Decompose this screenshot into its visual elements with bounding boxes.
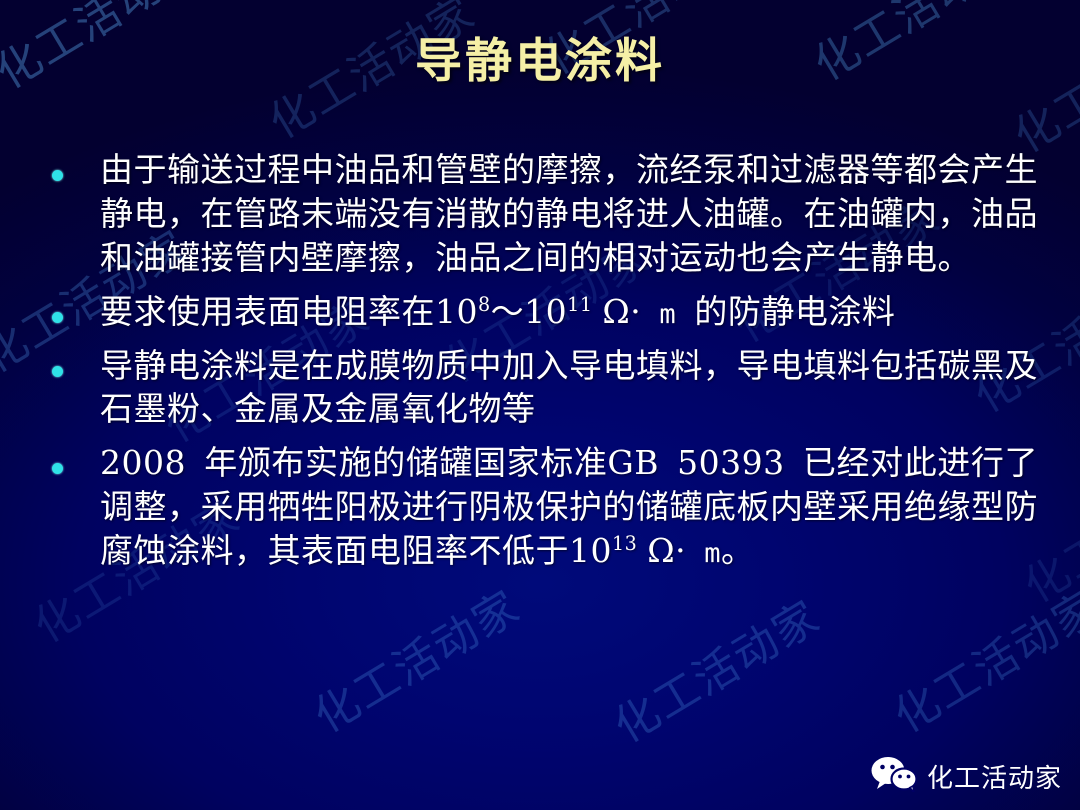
exponent-8: 8	[478, 293, 491, 316]
bullet-paragraph-1: 由于输送过程中油品和管壁的摩擦，流经泵和过滤器等都会产生静电，在管路末端没有消散…	[100, 148, 1038, 280]
list-item: 导静电涂料是在成膜物质中加入导电填料，导电填料包括碳黑及石墨粉、金属及金属氧化物…	[52, 344, 1038, 432]
ohm-unit: Ω·	[647, 531, 686, 570]
bullet-marker	[52, 290, 100, 327]
bullet-list: 由于输送过程中油品和管壁的摩擦，流经泵和过滤器等都会产生静电，在管路末端没有消散…	[52, 148, 1038, 583]
ohm-unit: Ω·	[602, 292, 641, 331]
standard-code: 50393	[677, 443, 784, 482]
watermark-text: 化工活动家	[600, 582, 830, 755]
footer-brand-label: 化工活动家	[927, 758, 1062, 795]
list-item: 要求使用表面电阻率在108～1011Ω·m的防静电涂料	[52, 290, 1038, 334]
standard-intro: 年颁布实施的储罐国家标准GB	[204, 443, 659, 482]
bullet-paragraph-3: 导静电涂料是在成膜物质中加入导电填料，导电填料包括碳黑及石墨粉、金属及金属氧化物…	[100, 344, 1038, 432]
bullet-paragraph-2: 要求使用表面电阻率在108～1011Ω·m的防静电涂料	[100, 290, 1038, 334]
year-2008: 2008	[100, 443, 186, 482]
sentence-period: 。	[721, 531, 755, 570]
watermark-text: 化工活动家	[300, 572, 530, 745]
page-title: 导静电涂料	[0, 36, 1080, 88]
bullet-paragraph-4: 2008年颁布实施的储罐国家标准GB50393已经对此进行了调整，采用牺牲阳极进…	[100, 441, 1038, 573]
resistivity-prefix: 要求使用表面电阻率在10	[100, 292, 478, 331]
wechat-icon	[871, 756, 917, 796]
bullet-marker	[52, 148, 100, 185]
slide-canvas: 化工活动家化工活动家化工活动家化工活动家化工活动家化工活动家化工活动家化工活动家…	[0, 0, 1080, 810]
meter-unit: m	[659, 299, 676, 330]
meter-unit: m	[704, 538, 721, 569]
exponent-13: 13	[612, 532, 637, 555]
resistivity-suffix: 的防静电涂料	[694, 292, 895, 331]
footer-brand: 化工活动家	[871, 756, 1062, 796]
exponent-11: 11	[567, 293, 592, 316]
bullet-marker	[52, 441, 100, 478]
list-item: 由于输送过程中油品和管壁的摩擦，流经泵和过滤器等都会产生静电，在管路末端没有消散…	[52, 148, 1038, 280]
list-item: 2008年颁布实施的储罐国家标准GB50393已经对此进行了调整，采用牺牲阳极进…	[52, 441, 1038, 573]
resistivity-range: ～10	[491, 292, 568, 331]
bullet-marker	[52, 344, 100, 381]
watermark-text: 化工活动家	[880, 572, 1080, 745]
